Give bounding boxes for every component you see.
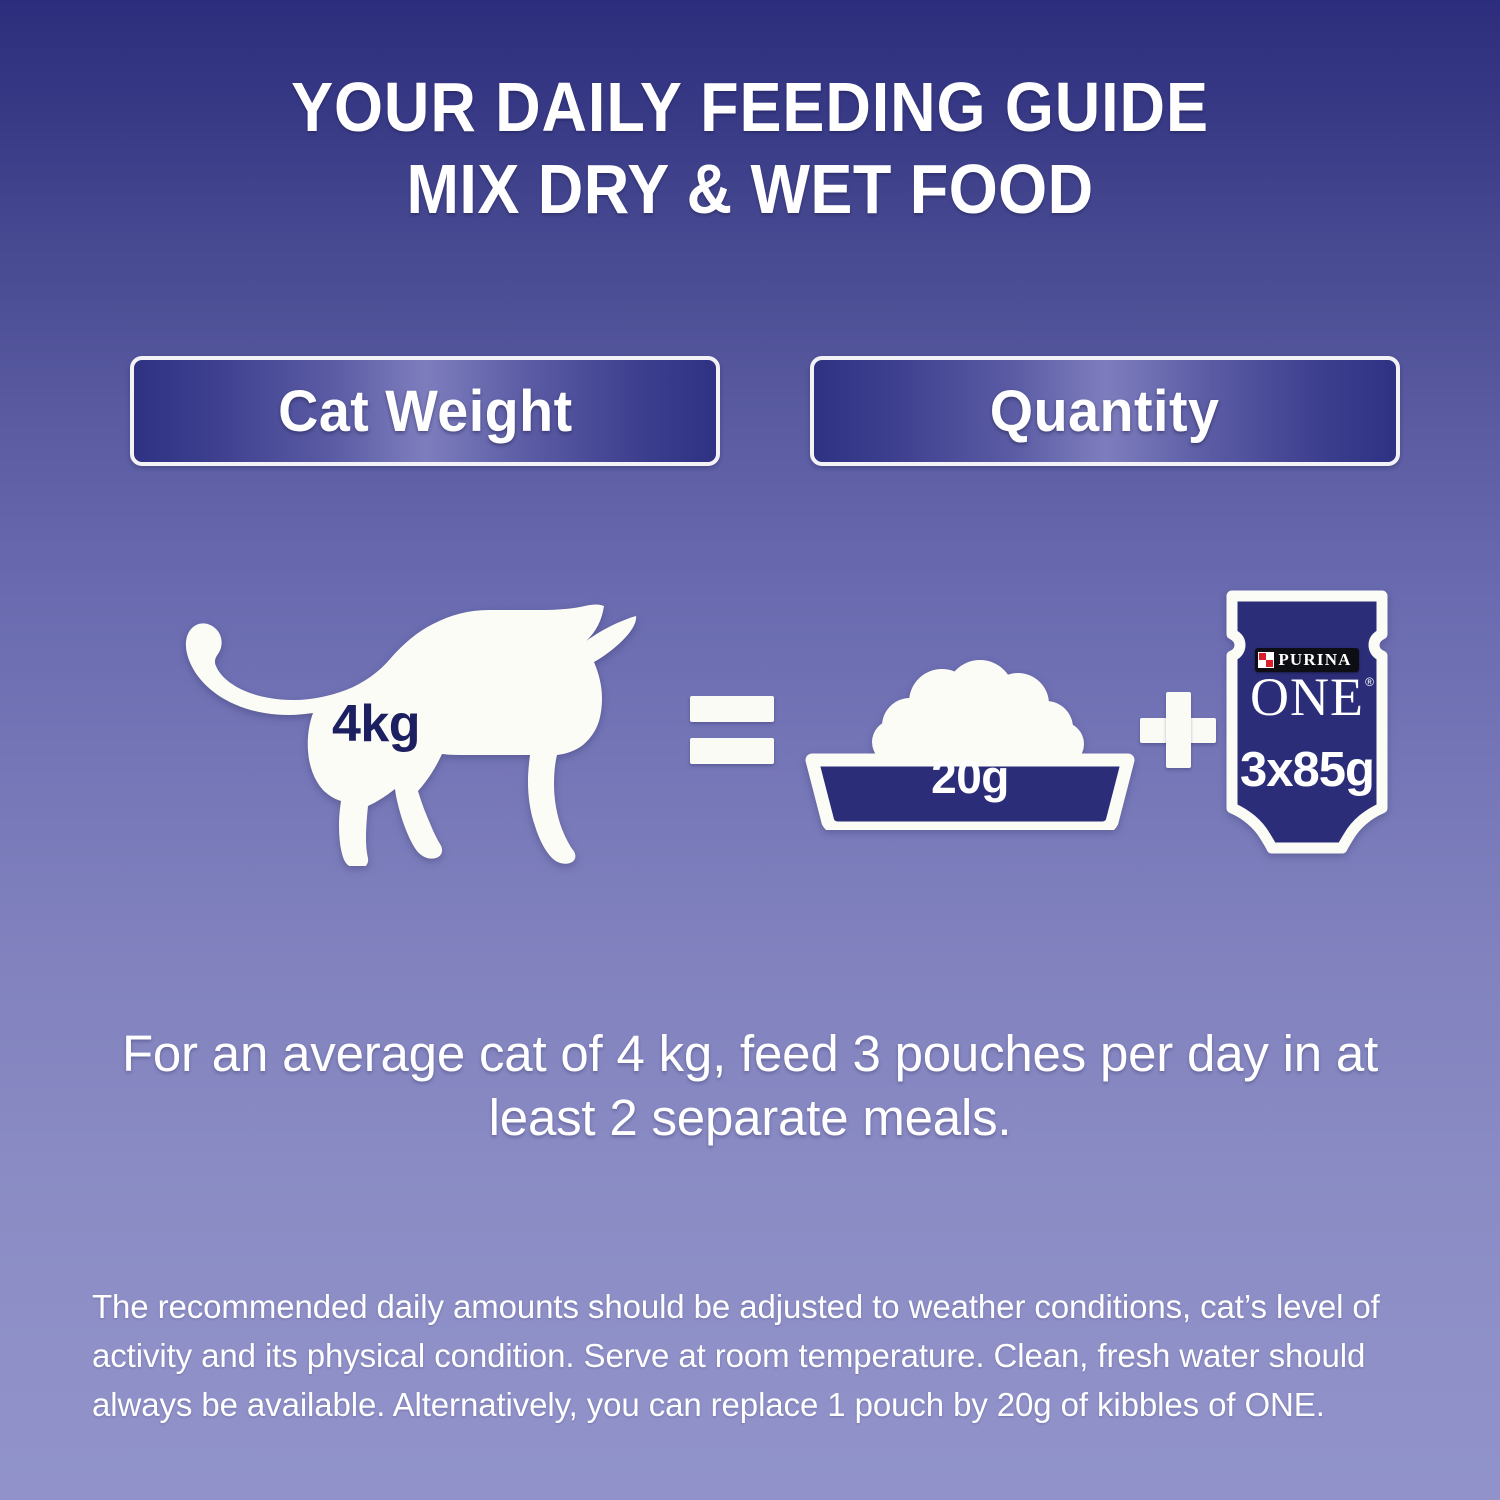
column-header-cat-weight-label: Cat Weight [278, 378, 573, 445]
cat-silhouette-icon: 4kg [96, 598, 656, 866]
feeding-description: For an average cat of 4 kg, feed 3 pouch… [80, 1022, 1420, 1150]
column-header-cat-weight: Cat Weight [130, 356, 720, 466]
feeding-equation-row: 4kg [0, 560, 1500, 890]
title-line-1: YOUR DAILY FEEDING GUIDE [75, 72, 1425, 142]
fine-print-disclaimer: The recommended daily amounts should be … [92, 1283, 1422, 1429]
title-line-2: MIX DRY & WET FOOD [75, 154, 1425, 224]
equals-icon [690, 686, 786, 770]
equals-bar-bottom [690, 738, 774, 764]
wet-food-pouch-icon: PURINA ONE ® 3x85g [1216, 586, 1398, 854]
cat-weight-value: 4kg [96, 694, 656, 754]
page-title: YOUR DAILY FEEDING GUIDE MIX DRY & WET F… [0, 72, 1500, 224]
column-header-quantity: Quantity [810, 356, 1400, 466]
column-header-quantity-label: Quantity [990, 378, 1220, 445]
feeding-guide-infographic: YOUR DAILY FEEDING GUIDE MIX DRY & WET F… [0, 0, 1500, 1500]
food-bowl-icon: 20g [790, 640, 1150, 830]
plus-bar-vertical [1166, 692, 1191, 768]
equals-bar-top [690, 696, 774, 722]
plus-icon [1140, 692, 1216, 768]
bowl-amount-value: 20g [790, 750, 1150, 804]
